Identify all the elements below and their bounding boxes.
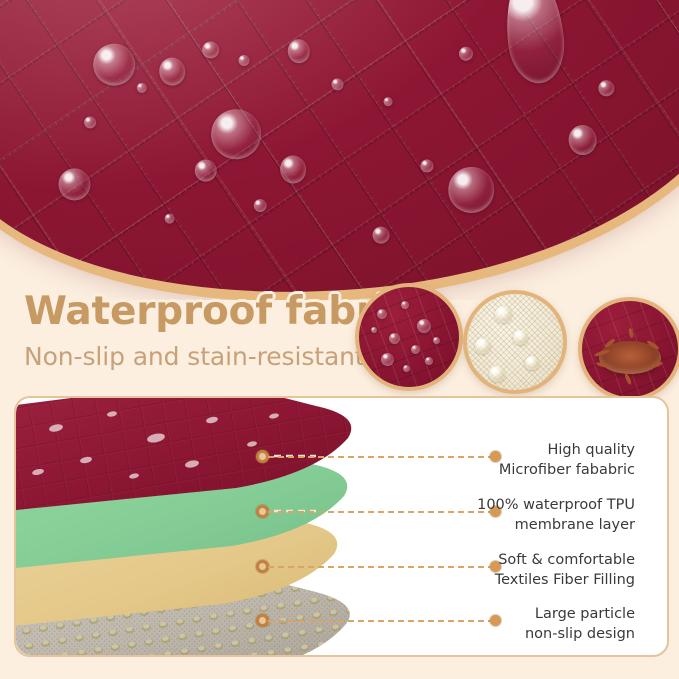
layer-4-label-line1: Large particle	[525, 604, 635, 624]
water-droplet	[433, 337, 440, 344]
water-droplet	[401, 301, 409, 309]
inset-stain-resistant	[578, 297, 679, 401]
inset-nonslip-backing	[463, 290, 567, 394]
leader-line-3	[268, 566, 494, 568]
layer-3-label-line2: Textiles Fiber Filling	[495, 570, 635, 590]
leader-line-2	[268, 511, 494, 513]
water-droplet	[425, 357, 433, 365]
water-droplet	[389, 333, 400, 344]
layer-2-label: 100% waterproof TPU membrane layer	[477, 495, 635, 535]
quilted-fabric-swatch	[0, 0, 679, 300]
water-bead	[495, 306, 512, 323]
label-marker-4	[490, 615, 501, 626]
leader-line-4	[268, 620, 494, 622]
water-droplet	[411, 345, 420, 354]
layer-4-label: Large particle non-slip design	[525, 604, 635, 644]
inset-water-beading	[355, 283, 463, 391]
water-bead	[513, 330, 528, 345]
water-droplet	[403, 365, 410, 372]
page-subtitle: Non-slip and stain-resistant	[24, 342, 384, 371]
hero-section	[0, 0, 679, 300]
water-droplet	[381, 353, 394, 366]
layer-1-label-line2: Microfiber fababric	[499, 460, 635, 480]
headline-block: Waterproof fabric Non-slip and stain-res…	[24, 292, 384, 371]
layer-construction-diagram: High quality Microfiber fababric 100% wa…	[14, 396, 669, 657]
water-droplet	[377, 309, 387, 319]
water-droplet	[371, 327, 377, 333]
page-title: Waterproof fabric	[24, 292, 384, 333]
water-bead	[525, 356, 539, 370]
infographic-root: Waterproof fabric Non-slip and stain-res…	[0, 0, 679, 679]
inset-fabric-texture	[355, 283, 463, 391]
layer-3-label: Soft & comfortable Textiles Fiber Fillin…	[495, 550, 635, 590]
layer-4-label-line2: non-slip design	[525, 624, 635, 644]
water-droplet	[417, 319, 431, 333]
leader-line-1	[268, 456, 494, 458]
layer-2-label-line1: 100% waterproof TPU	[477, 495, 635, 515]
water-bead	[475, 338, 491, 354]
layer-3-label-line1: Soft & comfortable	[495, 550, 635, 570]
water-bead	[489, 366, 505, 382]
layer-1-label-line1: High quality	[499, 440, 635, 460]
layer-2-label-line2: membrane layer	[477, 515, 635, 535]
layer-1-label: High quality Microfiber fababric	[499, 440, 635, 480]
